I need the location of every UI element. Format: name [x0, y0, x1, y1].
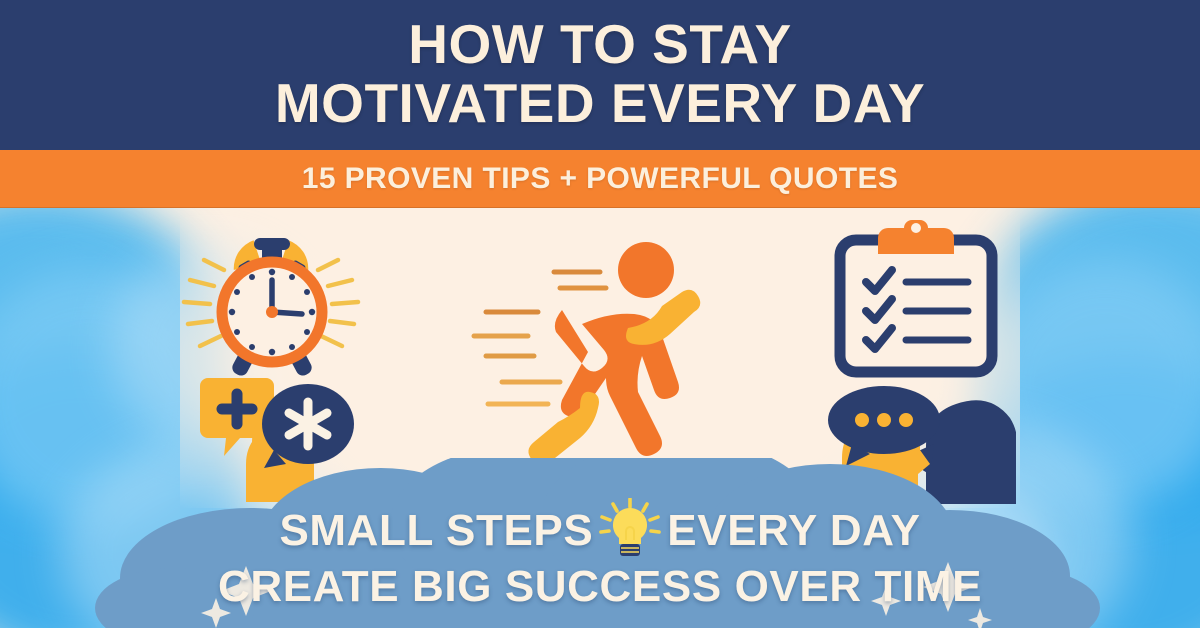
clipboard-frame — [840, 240, 992, 372]
ellipsis-dots-icon — [855, 413, 913, 427]
page-title-line-2: MOTIVATED EVERY DAY — [275, 77, 925, 130]
cloud-quote-line-1: SMALL STEPS — [279, 500, 920, 562]
lightbulb-base — [620, 544, 640, 556]
runner-head — [618, 242, 674, 298]
clock-center-pin — [266, 306, 278, 318]
page-subtitle: 15 PROVEN TIPS + POWERFUL QUOTES — [302, 162, 899, 196]
alarm-clock-icon — [178, 222, 364, 392]
cloud-quote-line-1-before: SMALL STEPS — [279, 508, 593, 554]
subtitle-band: 15 PROVEN TIPS + POWERFUL QUOTES — [0, 150, 1200, 208]
clipboard-clip-hole — [911, 223, 921, 233]
running-person-icon — [468, 232, 734, 472]
lightbulb-icon — [599, 498, 661, 560]
clock-top-bar — [254, 238, 290, 250]
checklist-clipboard-icon — [822, 220, 1012, 380]
header-band: HOW TO STAY MOTIVATED EVERY DAY — [0, 0, 1200, 150]
bottom-cloud-banner: SMALL STEPS — [0, 458, 1200, 628]
cloud-quote: SMALL STEPS — [0, 500, 1200, 610]
motivation-infographic-banner: HOW TO STAY MOTIVATED EVERY DAY 15 PROVE… — [0, 0, 1200, 628]
cloud-quote-line-2: CREATE BIG SUCCESS OVER TIME — [218, 564, 982, 610]
cloud-quote-line-1-after: EVERY DAY — [667, 508, 920, 554]
page-title-line-1: HOW TO STAY — [408, 18, 791, 71]
